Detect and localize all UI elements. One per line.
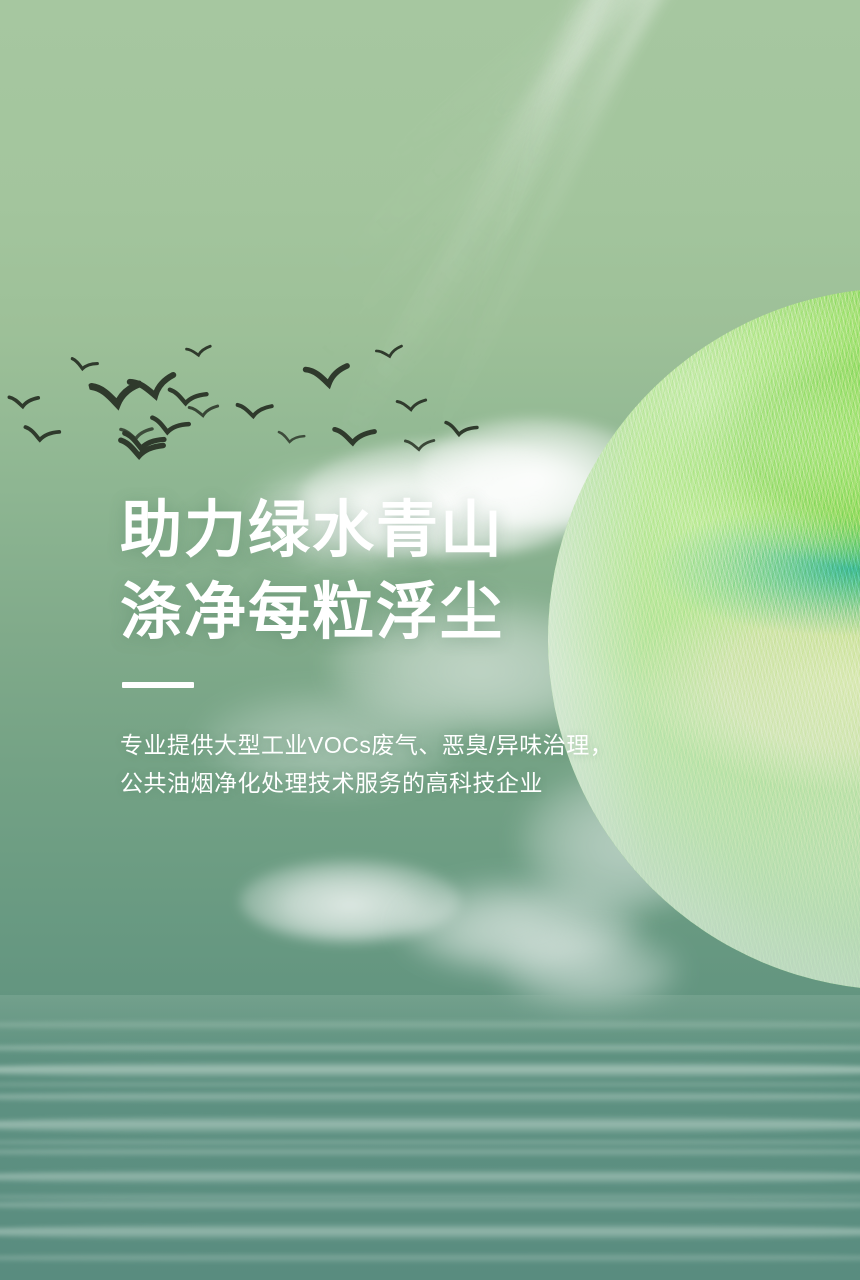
ripple xyxy=(0,1019,860,1031)
ripple xyxy=(0,1043,860,1053)
subtitle-line-2: 公共油烟净化处理技术服务的高科技企业 xyxy=(120,764,680,802)
bird-icon xyxy=(298,353,359,401)
light-ray xyxy=(317,0,860,220)
ripple xyxy=(0,1193,860,1201)
light-ray xyxy=(441,0,716,397)
light-ray xyxy=(467,0,670,354)
ripple xyxy=(0,1253,860,1263)
bird-icon xyxy=(187,400,223,425)
ripple xyxy=(0,1147,860,1157)
bird-icon xyxy=(395,394,431,419)
bird-icon xyxy=(88,370,148,421)
cloud xyxy=(240,860,460,942)
light-ray xyxy=(424,0,812,456)
ripple xyxy=(0,1139,860,1146)
water-haze xyxy=(0,995,860,1280)
ripple xyxy=(0,1169,860,1185)
bird-icon xyxy=(166,385,213,413)
cloud xyxy=(400,880,640,972)
bird-icon xyxy=(69,354,101,377)
light-ray xyxy=(409,0,750,431)
subtitle-line-1: 专业提供大型工业VOCs废气、恶臭/异味治理， xyxy=(120,726,680,764)
water-ripples xyxy=(0,995,860,1280)
light-ray xyxy=(304,0,860,377)
ripple xyxy=(0,1081,860,1088)
bird-icon xyxy=(21,423,64,449)
bird-icon xyxy=(235,399,276,425)
water-surface xyxy=(0,995,860,1280)
bird-icon xyxy=(275,429,308,449)
bird-icon xyxy=(117,422,159,448)
ripple xyxy=(0,1091,860,1103)
light-ray xyxy=(347,0,860,421)
bird-icon xyxy=(117,428,173,460)
bird-icon xyxy=(113,435,172,467)
bird-icon xyxy=(145,413,197,443)
bird-icon xyxy=(123,362,186,414)
bird-icon xyxy=(374,340,408,366)
ripple xyxy=(0,1115,860,1135)
ripple xyxy=(0,1223,860,1241)
bird-icon xyxy=(442,419,481,444)
bird-icon xyxy=(184,340,215,363)
headline-line-2: 涤净每粒浮尘 xyxy=(120,572,680,654)
bird-icon xyxy=(7,391,42,415)
poster-canvas: 助力绿水青山 涤净每粒浮尘 专业提供大型工业VOCs废气、恶臭/异味治理， 公共… xyxy=(0,0,860,1280)
divider-rule xyxy=(122,682,194,688)
bird-icon xyxy=(330,423,383,453)
light-ray xyxy=(288,0,860,317)
hero-copy: 助力绿水青山 涤净每粒浮尘 专业提供大型工业VOCs废气、恶臭/异味治理， 公共… xyxy=(120,490,680,802)
bird-icon xyxy=(403,434,439,457)
ripple xyxy=(0,1061,860,1079)
light-ray xyxy=(322,0,795,466)
ripple xyxy=(0,1199,860,1211)
headline-line-1: 助力绿水青山 xyxy=(120,490,680,572)
